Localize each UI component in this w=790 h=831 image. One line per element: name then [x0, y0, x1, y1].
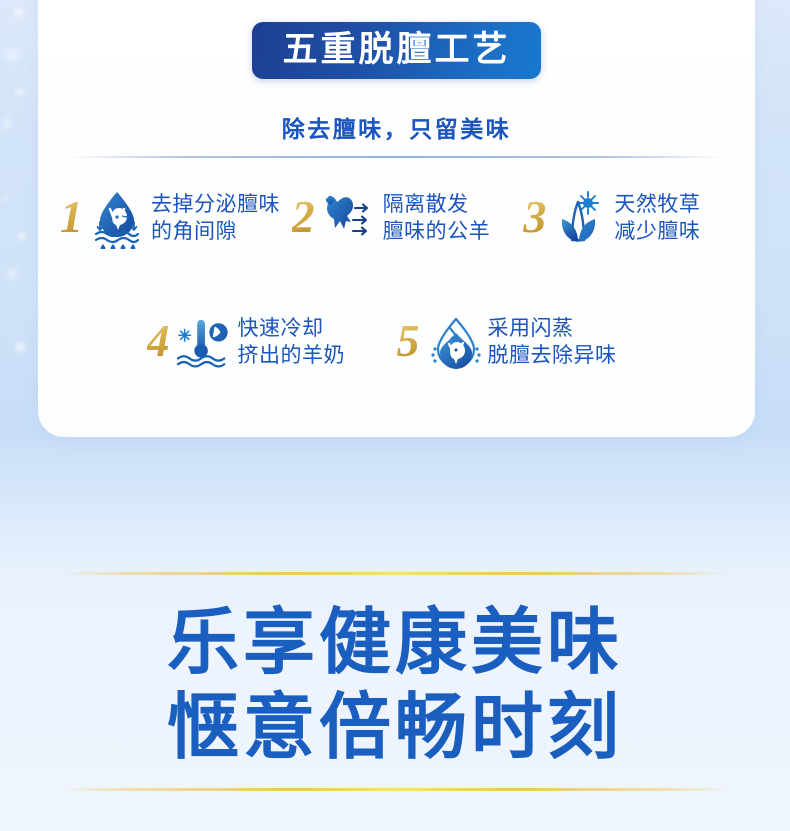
- feature-number: 1: [60, 194, 83, 240]
- bokeh-dot: [6, 268, 18, 280]
- bokeh-dot: [15, 342, 25, 352]
- headline-line-1: 乐享健康美味: [0, 600, 790, 685]
- feature-text: 隔离散发 膻味的公羊: [383, 192, 491, 246]
- bokeh-dot: [3, 196, 9, 202]
- banner-container: 五重脱膻工艺: [38, 22, 755, 79]
- features-row-bottom: 4: [38, 312, 755, 374]
- banner-title-text: 五重脱膻工艺: [282, 33, 510, 68]
- headline-line-2: 惬意倍畅时刻: [0, 685, 790, 770]
- features-row-top: 1: [38, 188, 755, 250]
- feature-text: 快速冷却 挤出的羊奶: [238, 316, 346, 370]
- bokeh-dot: [18, 232, 26, 240]
- headline-block: 乐享健康美味 惬意倍畅时刻: [0, 600, 790, 770]
- feature-item-3: 3: [523, 188, 755, 250]
- feature-item-2: 2: [292, 188, 524, 250]
- process-card: 五重脱膻工艺 除去膻味，只留美味 1: [38, 0, 755, 437]
- droplet-goat-steam-icon: [426, 312, 482, 374]
- goat-head-arrows-icon: [321, 188, 377, 250]
- gold-divider-top: [60, 572, 730, 575]
- thermometer-snowflake-waves-icon: [176, 312, 232, 374]
- bokeh-dot: [16, 88, 23, 95]
- feature-number: 4: [147, 318, 170, 364]
- feature-item-1: 1: [60, 188, 292, 250]
- banner-title-pill: 五重脱膻工艺: [252, 22, 540, 79]
- card-divider: [68, 156, 725, 158]
- feature-number: 3: [523, 194, 546, 240]
- bokeh-dot: [2, 118, 13, 129]
- page-background: 五重脱膻工艺 除去膻味，只留美味 1: [0, 0, 790, 831]
- goat-in-droplet-icon: [89, 188, 145, 250]
- feature-number: 2: [292, 194, 315, 240]
- feature-text: 去掉分泌膻味 的角间隙: [151, 192, 280, 246]
- banner-subtitle: 除去膻味，只留美味: [38, 110, 755, 144]
- feature-text: 天然牧草 减少膻味: [614, 192, 700, 246]
- feature-text: 采用闪蒸 脱膻去除异味: [488, 316, 617, 370]
- grass-sun-icon: [552, 188, 608, 250]
- gold-divider-bottom: [60, 788, 730, 791]
- feature-item-5: 5: [397, 312, 647, 374]
- bokeh-dot: [14, 8, 23, 17]
- feature-number: 5: [397, 318, 420, 364]
- bokeh-dot: [5, 48, 19, 62]
- feature-item-4: 4: [147, 312, 397, 374]
